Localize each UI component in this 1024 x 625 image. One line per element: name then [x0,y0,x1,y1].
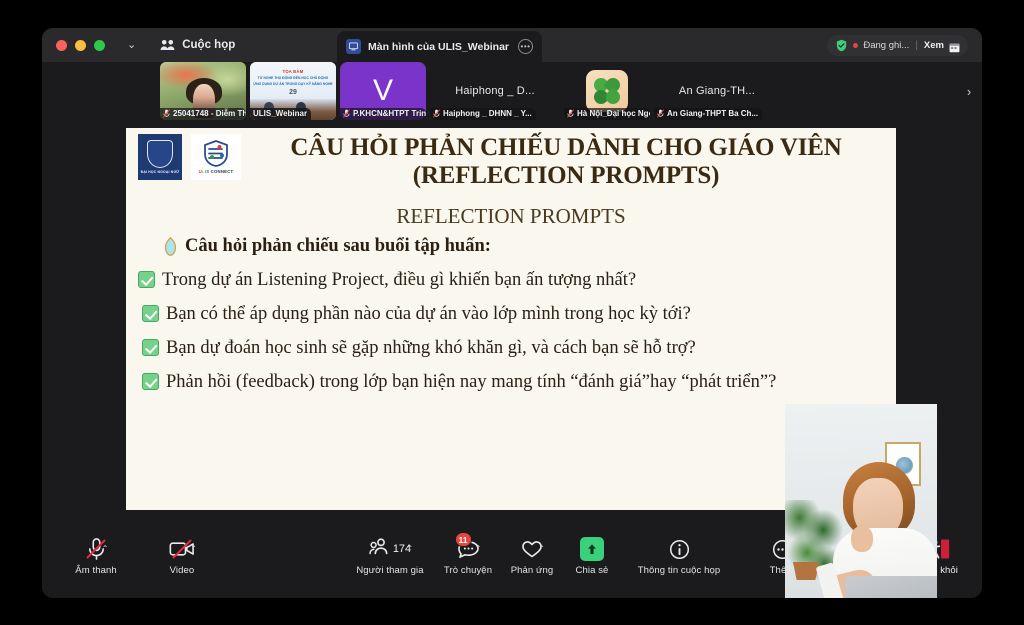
participant-name-chip: ULIS_Webinar [250,108,311,120]
checkbox-checked-icon [142,305,159,322]
crest-shield [147,140,173,168]
microphone-off-icon [343,109,350,118]
participant-name-chip: Hà Nội_Đại học Ngoại... [564,108,650,120]
slide-bullet-text: Trong dự án Listening Project, điều gì k… [162,270,636,290]
microphone-off-icon [163,109,170,118]
screen-share-icon [346,39,361,54]
zoom-meeting-window: ⌄ Cuộc họp Màn hình của ULIS_Webinar [42,28,982,598]
toolbar-item-audio[interactable]: ⌃ Âm thanh [58,536,134,576]
divider: | [915,40,918,51]
slide-title-line-1: CÂU HỎI PHẢN CHIẾU DÀNH CHO GIÁO VIÊN [246,134,886,162]
presenter-video-overlay[interactable] [785,404,937,598]
checkbox-checked-icon [138,271,155,288]
toolbar-label: Video [170,565,195,576]
toolbar-label: Trò chuyện [444,565,492,576]
slide-bullet-item: Bạn dự đoán học sinh sẽ gặp những khó kh… [142,334,890,364]
wordmark-rest: CONNECT [209,169,233,174]
window-titlebar: ⌄ Cuộc họp Màn hình của ULIS_Webinar [42,28,982,62]
share-up-arrow-icon [580,537,604,561]
slide-bullet-item: Bạn có thể áp dụng phần nào của dự án và… [142,300,890,330]
slide-logos: ĐẠI HỌC NGOẠI NGỮ ULIS CONNECT [138,134,241,180]
toolbar-item-video[interactable]: ⌃ Video [144,536,220,576]
chevron-down-icon[interactable]: ⌄ [127,40,136,51]
toolbar-item-participants[interactable]: 174 ⌃ Người tham gia [340,536,440,576]
participant-filmstrip[interactable]: 25041748 - Diễm Thị... TỌA ĐÀM TỪ NGHE T… [42,62,982,126]
shield-check-icon [835,39,848,52]
microphone-off-icon [433,109,440,118]
slide-bullet-text: Phản hồi (feedback) trong lớp bạn hiện n… [166,372,776,392]
participant-name: ULIS_Webinar [253,109,307,118]
microphone-off-icon [567,109,574,118]
clover-avatar [586,70,628,112]
shared-screen-stage: ĐẠI HỌC NGOẠI NGỮ ULIS CONNECT CÂU HỎI P… [42,126,982,530]
slide-bullet-text: Bạn có thể áp dụng phần nào của dự án và… [166,304,691,324]
people-icon [369,538,389,560]
participant-name-chip: Haiphong _ DHNN _ Y... [430,108,536,120]
participant-thumbnail-active[interactable]: TỌA ĐÀM TỪ NGHE THỤ ĐỘNG ĐẾN HỌC CHỦ ĐỘN… [250,62,336,120]
meeting-label-group: Cuộc họp [160,39,235,51]
connect-shield-mark [203,140,229,167]
screen-share-tab-label: Màn hình của ULIS_Webinar [368,41,509,53]
screen-share-more-icon[interactable]: ••• [518,39,533,54]
microphone-off-icon: ⌃ [86,536,107,562]
recording-dot-icon [853,43,858,48]
cam-laptop [845,576,937,598]
checkbox-checked-icon [142,373,159,390]
slide-bullet-list: Trong dự án Listening Project, điều gì k… [138,266,890,402]
chevron-up-icon[interactable]: ⌃ [538,544,545,553]
ulis-university-crest-icon: ĐẠI HỌC NGOẠI NGỮ [138,134,182,180]
meeting-title: Cuộc họp [182,39,235,51]
microphone-off-icon [657,109,664,118]
toolbar-label: Âm thanh [75,565,116,576]
recording-status-pill: Đang ghi... | Xem [827,35,968,56]
toolbar-item-meeting-info[interactable]: Thông tin cuộc họp [614,536,744,576]
cam-hand [851,526,873,552]
slide-bullet-item: Trong dự án Listening Project, điều gì k… [138,266,890,296]
close-window-button[interactable] [56,40,67,51]
crest-caption: ĐẠI HỌC NGOẠI NGỮ [141,170,180,174]
view-recording-button[interactable]: Xem [924,40,944,51]
info-circle-icon [669,536,690,562]
participant-name: Hà Nội_Đại học Ngoại... [577,109,650,118]
filmstrip-next-button[interactable]: › [956,62,982,120]
recording-status-text: Đang ghi... [863,40,909,51]
participant-thumbnail[interactable]: V P.KHCN&HTPT Trinh... [340,62,426,120]
connect-wordmark: ULIS CONNECT [199,169,234,174]
clover-leaf-icon [603,87,623,107]
slide-lead-text: Câu hỏi phản chiếu sau buổi tập huấn: [185,236,491,257]
participant-name: P.KHCN&HTPT Trinh... [353,109,426,118]
participant-thumbnail[interactable]: Hà Nội_Đại học Ngoại... [564,62,650,120]
slide-title: CÂU HỎI PHẢN CHIẾU DÀNH CHO GIÁO VIÊN (R… [246,134,886,191]
participant-thumbnail[interactable]: 25041748 - Diễm Thị... [160,62,246,120]
toolbar-label: Phản ứng [511,565,554,576]
preview-slide-number: 29 [250,89,336,96]
chat-unread-badge: 11 [455,532,472,547]
chevron-up-icon[interactable]: ⌃ [190,544,197,553]
slide-lead-line: Câu hỏi phản chiếu sau buổi tập huấn: [164,236,491,257]
chevron-up-icon[interactable]: ⌃ [102,544,109,553]
preview-slide-title: TỌA ĐÀM [250,69,336,74]
slide-bullet-item: Phản hồi (feedback) trong lớp bạn hiện n… [142,368,890,398]
toolbar-label: Chia sẻ [576,565,609,576]
slide-bullet-text: Bạn dự đoán học sinh sẽ gặp những khó kh… [166,338,696,358]
participant-name: Haiphong _ DHNN _ Y... [443,109,532,118]
minimize-window-button[interactable] [75,40,86,51]
chevron-up-icon[interactable]: ⌃ [406,544,413,553]
people-icon [160,39,175,51]
participant-thumbnail[interactable]: Haiphong _ D... Haiphong _ DHNN _ Y... [430,62,560,120]
slide-title-line-2: (REFLECTION PROMPTS) [246,162,886,190]
participant-name-chip: 25041748 - Diễm Thị... [160,108,246,120]
participant-name-chip: An Giang-THPT Ba Ch... [654,108,762,120]
slide-subtitle: REFLECTION PROMPTS [126,204,896,229]
participants-icon-group: 174 ⌃ [369,536,411,562]
preview-slide-line2: ỨNG DỤNG DỰ ÁN TRONG DẠY KỸ NĂNG NGHE [250,82,336,86]
chevron-up-icon[interactable]: ⌃ [475,544,482,553]
participant-name: An Giang-THPT Ba Ch... [667,109,758,118]
checkbox-checked-icon [142,339,159,356]
screen-share-tab[interactable]: Màn hình của ULIS_Webinar ••• [337,31,542,62]
share-button[interactable] [580,536,604,562]
ulis-connect-logo-icon: ULIS CONNECT [191,134,241,180]
calendar-icon[interactable] [949,40,960,51]
chat-bubble-icon: 11 ⌃ [457,536,480,562]
camera-off-icon: ⌃ [169,536,195,562]
participant-name-chip: P.KHCN&HTPT Trinh... [340,108,426,120]
presentation-slide: ĐẠI HỌC NGOẠI NGỮ ULIS CONNECT CÂU HỎI P… [126,128,896,510]
toolbar-label: Người tham gia [356,565,423,576]
preview-slide-line1: TỪ NGHE THỤ ĐỘNG ĐẾN HỌC CHỦ ĐỘNG [250,76,336,80]
traffic-lights [42,40,105,51]
participant-name: 25041748 - Diễm Thị... [173,109,246,118]
participant-thumbnail[interactable]: An Giang-TH... An Giang-THPT Ba Ch... [654,62,780,120]
zoom-window-button[interactable] [94,40,105,51]
toolbar-label: Thông tin cuộc họp [638,565,721,576]
cam-plant-pot [793,562,819,580]
heart-icon: ⌃ [521,536,543,562]
gem-icon [164,237,177,256]
